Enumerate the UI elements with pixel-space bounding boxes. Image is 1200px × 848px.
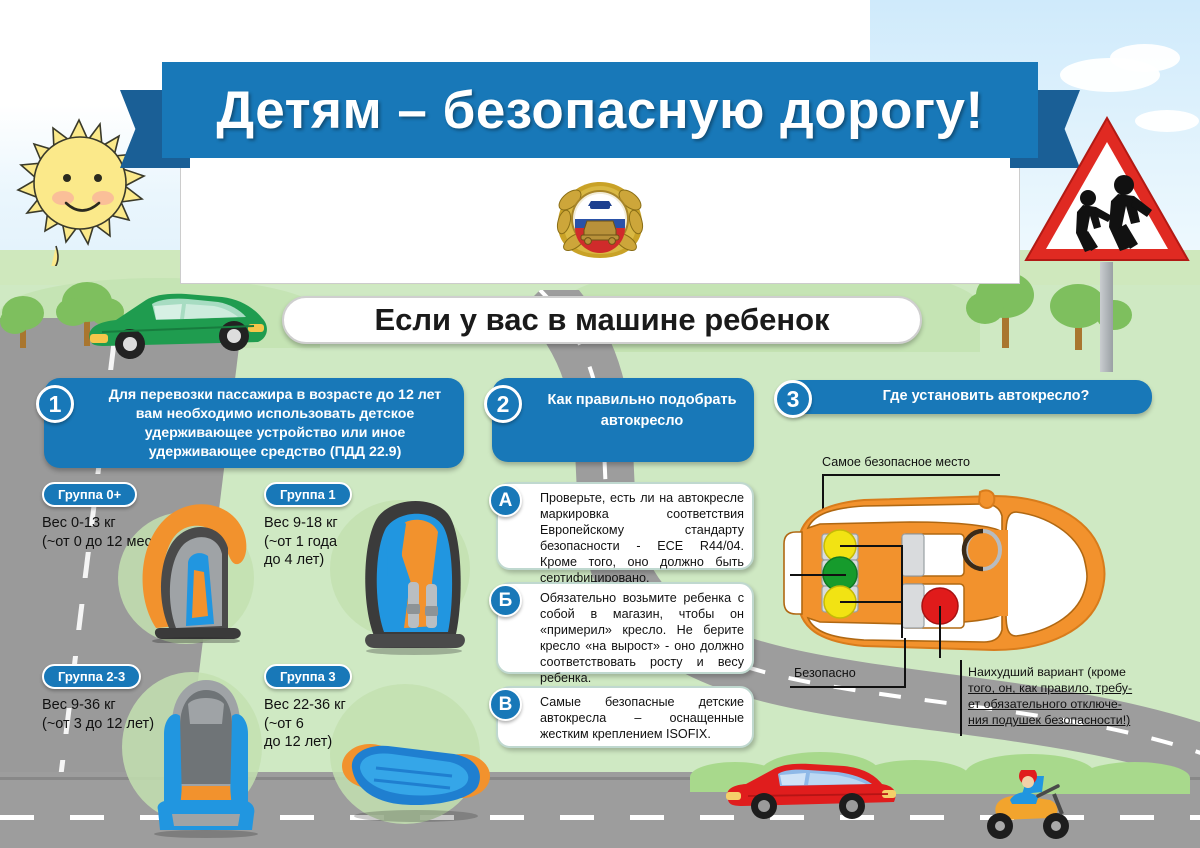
item-letter-a-badge: А [489,484,522,517]
subtitle-pill: Если у вас в машине ребенок [282,296,922,344]
section-1-number: 1 [36,385,74,423]
group-weight-3: Вес 22-36 кг [264,696,346,714]
section-1-text-box: Для перевозки пассажира в возрасте до 12… [44,378,464,468]
booster-cushion [330,724,500,834]
leader-line-safest-horizontal [822,474,1000,476]
leader-line-safe-horizontal [790,574,846,576]
leader-line-safe-vertical [904,638,906,688]
worst-line-3: ет обязательного отключе- [968,696,1200,712]
scooter-with-rider [966,770,1078,844]
leader-line-safe-underline [790,686,906,688]
green-sedan-car [82,284,272,366]
worst-line-4: ния подушек безопасности!) [968,712,1200,728]
cloud-icon [1110,44,1180,72]
group-weight-2-3: Вес 9-36 кг [42,696,116,714]
leader-line-worst-vertical [960,660,962,736]
info-card-v: Самые безопасные детские автокресла – ос… [496,686,754,748]
worst-line-1: Наихудший вариант (кроме [968,664,1200,680]
bush-shape [1080,762,1190,794]
info-card-b-text: Обязательно возьмите ребенка с собой в м… [540,591,744,685]
section-2-title-box: Как правильно подобрать автокресло [492,378,754,462]
info-card-b: Обязательно возьмите ребенка с собой в м… [496,582,754,674]
label-safe-place: Безопасно [794,666,856,682]
section-3-title-box: Где установить автокресло? [782,380,1152,414]
subtitle-text: Если у вас в машине ребенок [374,302,829,338]
car-top-view-diagram [780,488,1110,658]
group-pill-0plus: Группа 0+ [42,482,137,507]
sign-triangle [1022,112,1192,272]
ribbon-band: Детям – безопасную дорогу! [162,62,1038,158]
high-back-booster-seat [128,664,278,839]
red-sedan-car [722,758,900,826]
group-age-3: (~от 6 до 12 лет) [264,715,332,752]
page-title: Детям – безопасную дорогу! [216,80,983,141]
toddler-car-seat [340,486,478,656]
group-pill-3: Группа 3 [264,664,352,689]
poster-canvas: Детям – безопасную дорогу! [0,0,1200,848]
group-weight-0plus: Вес 0-13 кг [42,514,116,532]
infant-carrier-seat [130,478,260,643]
worst-line-2: того, он, как правило, требу- [968,680,1200,696]
info-card-a-text: Проверьте, есть ли на автокресле маркиро… [540,491,744,585]
tree-crown [966,292,1004,324]
item-letter-v-badge: В [489,688,522,721]
section-3-number: 3 [774,380,812,418]
label-safest-place: Самое безопасное место [822,455,970,471]
group-age-1: (~от 1 года до 4 лет) [264,533,337,570]
group-pill-1: Группа 1 [264,482,352,507]
children-crossing-road-sign [1022,112,1192,302]
sign-pole [1100,262,1113,372]
section-2-number: 2 [484,385,522,423]
tree-crown [0,308,30,334]
info-card-v-text: Самые безопасные детские автокресла – ос… [540,695,744,741]
item-letter-b-badge: Б [489,584,522,617]
title-ribbon: Детям – безопасную дорогу! [120,62,1080,174]
gibdd-emblem-icon [548,178,652,260]
group-weight-1: Вес 9-18 кг [264,514,338,532]
label-worst-option: Наихудший вариант (кроме того, он, как п… [968,664,1200,729]
info-card-a: Проверьте, есть ли на автокресле маркиро… [496,482,754,570]
group-pill-2-3: Группа 2-3 [42,664,141,689]
